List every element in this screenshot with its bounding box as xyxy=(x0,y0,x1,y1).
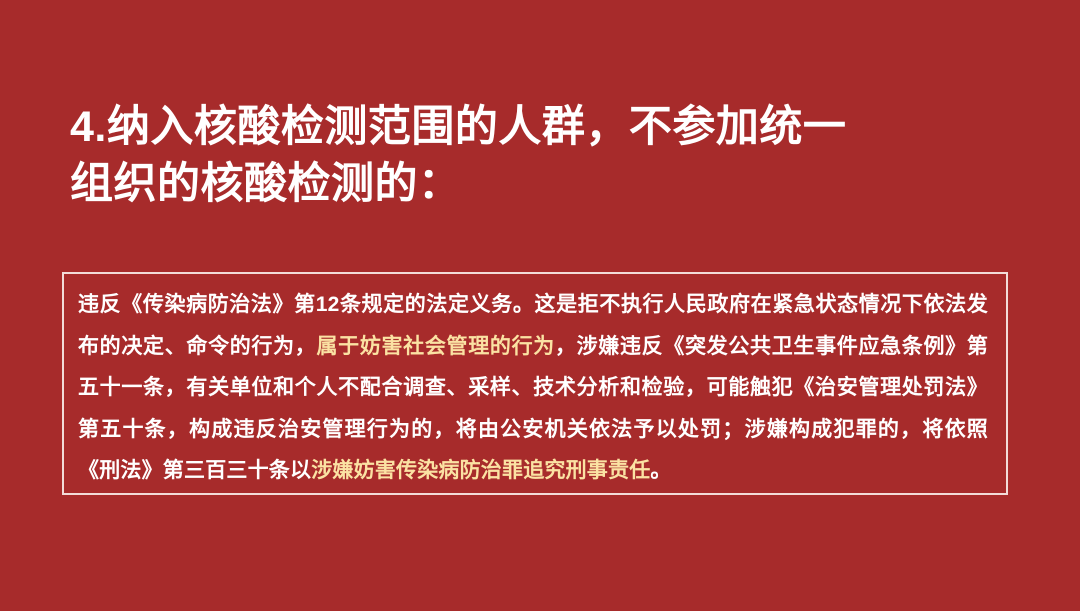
statement-box: 违反《传染病防治法》第12条规定的法定义务。这是拒不执行人民政府在紧急状态情况下… xyxy=(62,272,1008,495)
page-title: 4.纳入核酸检测范围的人群，不参加统一 组织的核酸检测的： xyxy=(70,99,1020,213)
statement-highlight: 涉嫌妨害传染病防治罪追究刑事责任 xyxy=(311,459,650,482)
statement-text-run: 。 xyxy=(650,459,671,482)
statement-paragraph: 违反《传染病防治法》第12条规定的法定义务。这是拒不执行人民政府在紧急状态情况下… xyxy=(78,284,988,492)
slide-canvas: 4.纳入核酸检测范围的人群，不参加统一 组织的核酸检测的： 违反《传染病防治法》… xyxy=(0,0,1080,611)
statement-highlight: 属于妨害社会管理的行为 xyxy=(316,335,554,358)
